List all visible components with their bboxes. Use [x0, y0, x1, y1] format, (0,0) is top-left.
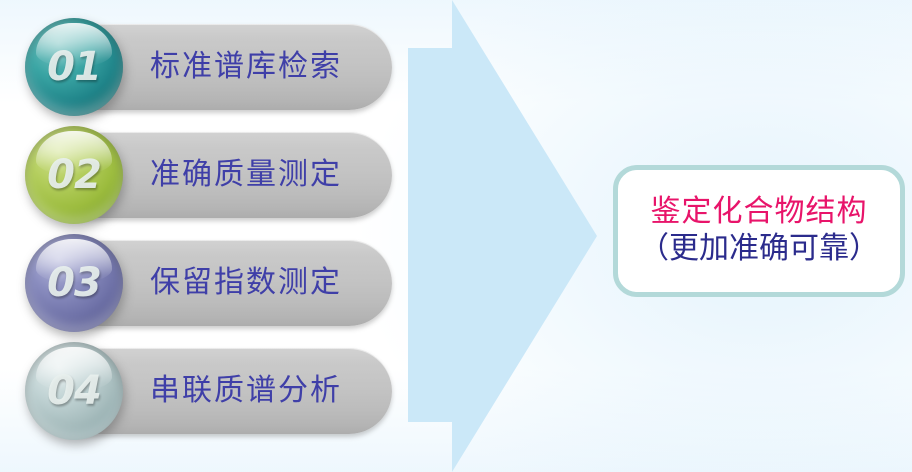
outcome-secondary-text: （更加准确可靠） [639, 231, 879, 268]
step-row[interactable]: 03 保留指数测定 [45, 240, 392, 326]
step-label: 准确质量测定 [150, 132, 342, 218]
step-row[interactable]: 04 串联质谱分析 [45, 348, 392, 434]
arrow-polygon [408, 0, 597, 472]
step-label: 标准谱库检索 [150, 24, 342, 110]
outcome-box[interactable]: 鉴定化合物结构 （更加准确可靠） [613, 165, 905, 297]
step-badge-olive-green-sphere: 02 [25, 126, 123, 224]
sphere-body [25, 342, 123, 440]
step-badge-silver-teal-sphere: 04 [25, 342, 123, 440]
step-badge-slate-purple-sphere: 03 [25, 234, 123, 332]
step-row[interactable]: 01 标准谱库检索 [45, 24, 392, 110]
outcome-primary-text: 鉴定化合物结构 [651, 194, 868, 231]
sphere-body [25, 126, 123, 224]
step-label: 串联质谱分析 [150, 348, 342, 434]
diagram-canvas: 01 标准谱库检索 02 准确质量测定 03 保留指数测定 04 [0, 0, 912, 472]
sphere-body [25, 18, 123, 116]
sphere-body [25, 234, 123, 332]
step-label: 保留指数测定 [150, 240, 342, 326]
step-badge-teal-sphere: 01 [25, 18, 123, 116]
step-row[interactable]: 02 准确质量测定 [45, 132, 392, 218]
